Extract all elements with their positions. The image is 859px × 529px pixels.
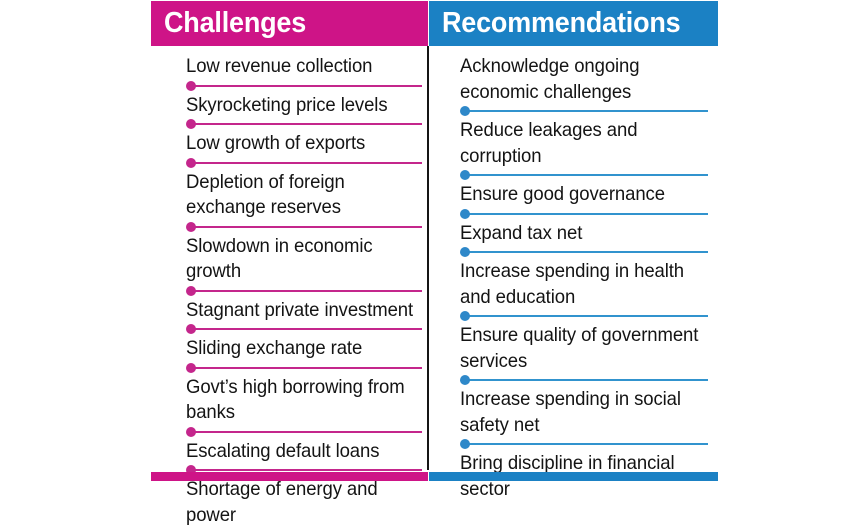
list-item-separator-with-bullet-icon [460,170,717,180]
list-item: Increase spending in social safety net [439,385,717,449]
list-item: Shortage of energy and power [165,475,433,529]
list-item: Reduce leakages and corruption [439,116,717,180]
list-item: Sliding exchange rate [165,334,433,373]
list-item: Escalating default loans [165,437,433,476]
recommendation-item-label: Expand tax net [460,219,704,248]
challenge-item-label: Stagnant private investment [186,296,421,325]
challenges-bottom-bar [151,472,428,481]
list-item: Low growth of exports [165,129,433,168]
recommendations-header-title: Recommendations [442,8,681,37]
recommendation-item-label: Ensure quality of government services [460,321,704,375]
challenge-item-label: Escalating default loans [186,437,421,466]
list-item-separator-with-bullet-icon [186,158,433,168]
list-item: Ensure quality of government services [439,321,717,385]
challenge-item-label: Shortage of energy and power [186,475,421,529]
list-item: Low revenue collection [165,52,433,91]
challenge-item-label: Sliding exchange rate [186,334,421,363]
infographic-root: Challenges Low revenue collectionSkyrock… [0,0,859,484]
recommendation-item-label: Reduce leakages and corruption [460,116,704,170]
challenges-list: Low revenue collectionSkyrocketing price… [165,52,433,529]
list-item-separator-with-bullet-icon [460,106,717,116]
list-item: Depletion of foreign exchange reserves [165,168,433,232]
challenge-item-label: Slowdown in economic growth [186,232,421,286]
list-item-separator-with-bullet-icon [460,439,717,449]
list-item: Skyrocketing price levels [165,91,433,130]
challenges-column: Challenges Low revenue collectionSkyrock… [151,0,428,484]
recommendation-item-label: Ensure good governance [460,180,704,209]
list-item: Stagnant private investment [165,296,433,335]
list-item-separator-with-bullet-icon [186,286,433,296]
challenge-item-label: Skyrocketing price levels [186,91,421,120]
list-item-separator-with-bullet-icon [186,363,433,373]
challenges-header-title: Challenges [164,8,306,37]
list-item-separator-with-bullet-icon [186,324,433,334]
challenge-item-label: Govt’s high borrowing from banks [186,373,421,427]
list-item: Expand tax net [439,219,717,258]
challenge-item-label: Low growth of exports [186,129,421,158]
challenge-item-label: Low revenue collection [186,52,421,81]
list-item-separator-with-bullet-icon [460,247,717,257]
challenge-item-label: Depletion of foreign exchange reserves [186,168,421,222]
recommendations-header-banner: Recommendations [429,1,718,46]
list-item-separator-with-bullet-icon [460,375,717,385]
recommendation-item-label: Increase spending in health and educatio… [460,257,704,311]
list-item-separator-with-bullet-icon [186,427,433,437]
recommendation-item-label: Increase spending in social safety net [460,385,704,439]
recommendation-item-label: Acknowledge ongoing economic challenges [460,52,704,106]
list-item: Increase spending in health and educatio… [439,257,717,321]
challenges-header-banner: Challenges [151,1,428,46]
recommendations-column: Recommendations Acknowledge ongoing econ… [429,0,718,484]
list-item-separator-with-bullet-icon [460,311,717,321]
list-item: Slowdown in economic growth [165,232,433,296]
column-divider [427,46,429,470]
list-item-separator-with-bullet-icon [186,119,433,129]
list-item-separator-with-bullet-icon [460,209,717,219]
list-item: Govt’s high borrowing from banks [165,373,433,437]
list-item: Acknowledge ongoing economic challenges [439,52,717,116]
recommendations-list: Acknowledge ongoing economic challengesR… [439,52,717,503]
list-item-separator-with-bullet-icon [186,81,433,91]
list-item: Ensure good governance [439,180,717,219]
list-item-separator-with-bullet-icon [186,222,433,232]
recommendations-bottom-bar [429,472,718,481]
